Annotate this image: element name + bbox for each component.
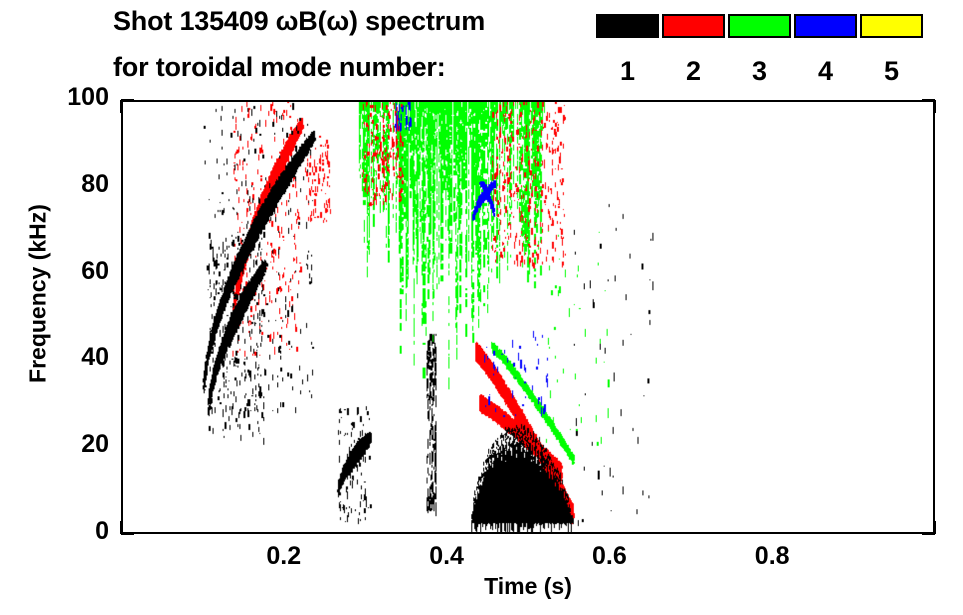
legend-swatch-mode-5 [860,14,923,38]
x-tick-label-0.4: 0.4 [407,542,487,571]
legend-label-mode-5: 5 [860,56,923,87]
legend-label-mode-1: 1 [596,56,659,87]
legend-swatch-mode-3 [728,14,791,38]
legend-label-mode-3: 3 [728,56,791,87]
plot-area [121,100,935,534]
y-tick-label-60: 60 [49,257,109,286]
y-tick-label-100: 100 [49,83,109,112]
y-tick-label-20: 20 [49,430,109,459]
legend-swatch-mode-4 [794,14,857,38]
legend-label-mode-4: 4 [794,56,857,87]
x-axis-label: Time (s) [121,573,935,600]
x-tick-label-0.6: 0.6 [569,542,649,571]
legend-label-mode-2: 2 [662,56,725,87]
y-tick-label-40: 40 [49,343,109,372]
legend-swatch-mode-1 [596,14,659,38]
x-tick-label-0.2: 0.2 [244,542,324,571]
figure-title-line-2: for toroidal mode number: [113,52,446,83]
y-tick-label-0: 0 [49,517,109,546]
spectrogram-canvas [123,102,933,532]
y-axis-label: Frequency (kHz) [25,164,52,424]
legend-swatch-mode-2 [662,14,725,38]
figure-title-line-1: Shot 135409 ωB(ω) spectrum [113,6,485,37]
spectrogram-figure: Shot 135409 ωB(ω) spectrum for toroidal … [0,0,963,615]
x-tick-label-0.8: 0.8 [732,542,812,571]
y-tick-label-80: 80 [49,170,109,199]
